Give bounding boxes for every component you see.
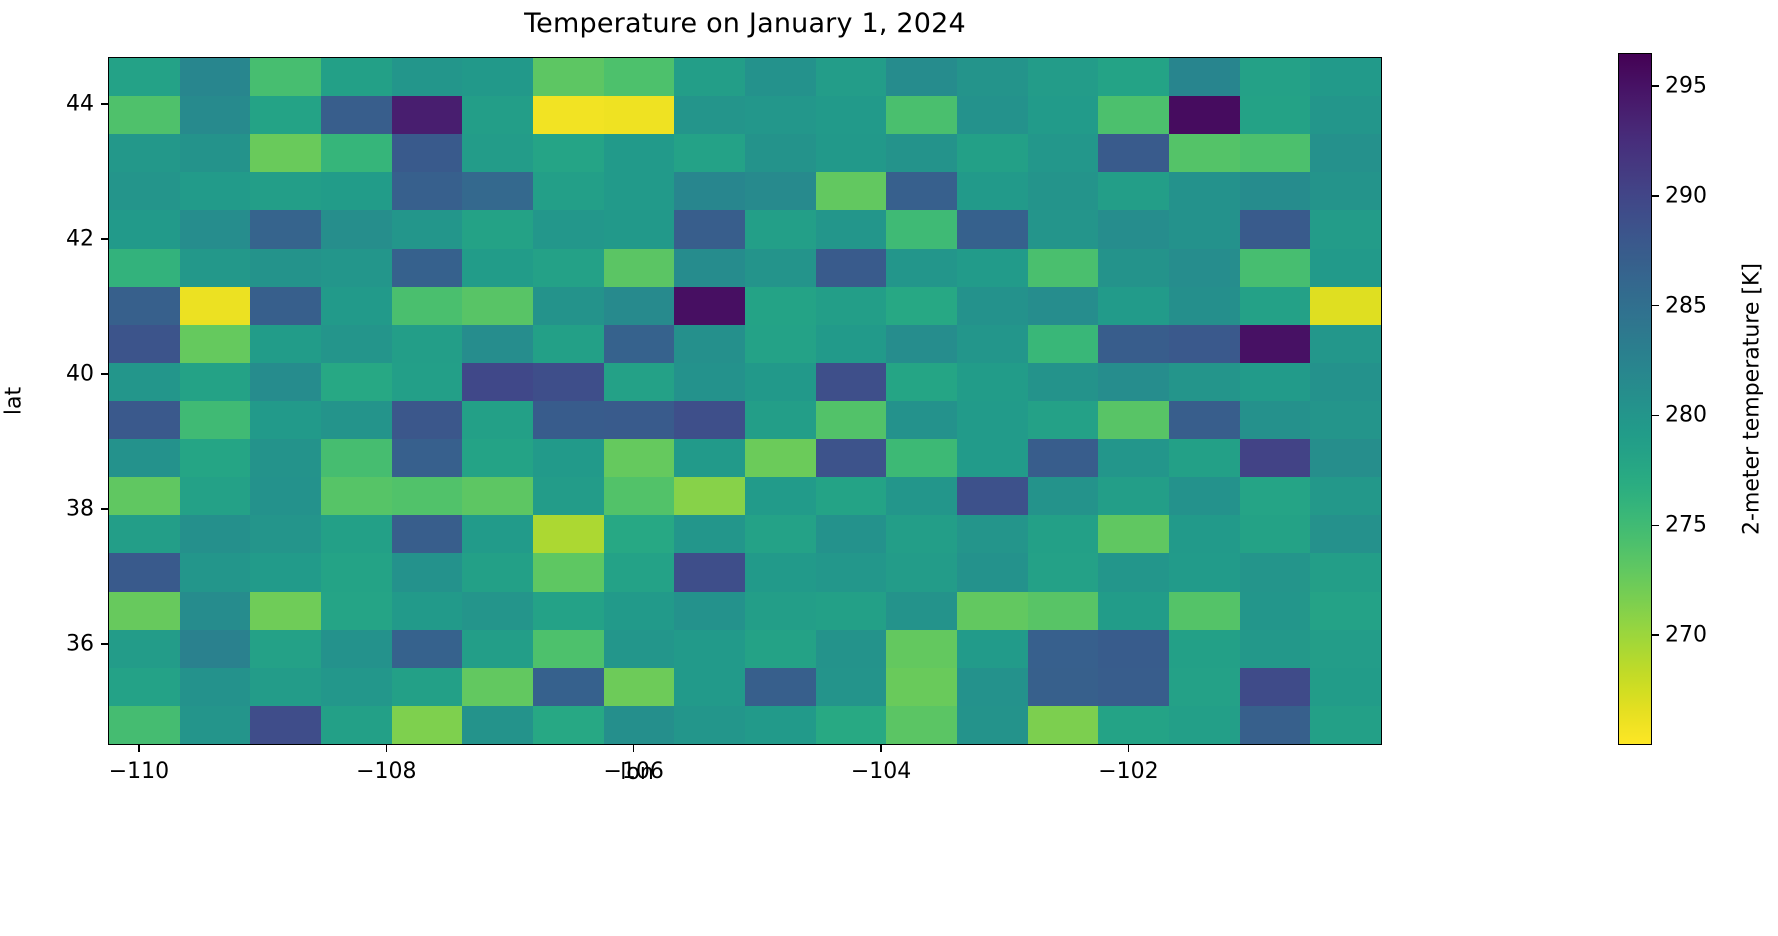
heatmap-cell <box>533 96 604 134</box>
heatmap-cell <box>1310 58 1381 96</box>
heatmap-cell <box>250 210 321 248</box>
heatmap-cell <box>1310 210 1381 248</box>
heatmap-cell <box>886 249 957 287</box>
heatmap-cell <box>957 477 1028 515</box>
heatmap-cell <box>674 249 745 287</box>
heatmap-cell <box>604 668 675 706</box>
heatmap-cell <box>1169 439 1240 477</box>
heatmap-cell <box>109 210 180 248</box>
x-tick-label: −110 <box>109 759 169 784</box>
heatmap-cell <box>674 210 745 248</box>
heatmap-cell <box>604 134 675 172</box>
heatmap-cell <box>462 172 533 210</box>
colorbar-tick-label: 280 <box>1665 403 1707 428</box>
heatmap-cell <box>462 515 533 553</box>
colorbar-tick-mark <box>1652 415 1659 417</box>
heatmap-cell <box>957 249 1028 287</box>
heatmap-cell <box>886 706 957 744</box>
heatmap-cell <box>604 210 675 248</box>
heatmap-cell <box>674 477 745 515</box>
heatmap-cell <box>533 325 604 363</box>
heatmap-cell <box>1310 515 1381 553</box>
heatmap-cell <box>745 363 816 401</box>
heatmap-cell <box>321 172 392 210</box>
heatmap-cell <box>533 477 604 515</box>
heatmap-cell <box>674 325 745 363</box>
heatmap-cell <box>745 249 816 287</box>
heatmap-cell <box>180 96 251 134</box>
heatmap-cell <box>250 515 321 553</box>
heatmap-cell <box>1240 706 1311 744</box>
heatmap-cell <box>745 668 816 706</box>
heatmap-cell <box>1028 287 1099 325</box>
figure-canvas: Temperature on January 1, 2024 lat lon 2… <box>0 0 1778 936</box>
heatmap-cell <box>109 630 180 668</box>
heatmap-cell <box>462 325 533 363</box>
colorbar-tick-mark <box>1652 195 1659 197</box>
heatmap-cell <box>1098 515 1169 553</box>
chart-title: Temperature on January 1, 2024 <box>0 8 1490 39</box>
heatmap-cell <box>109 96 180 134</box>
heatmap-cell <box>816 96 887 134</box>
heatmap-cell <box>1028 401 1099 439</box>
heatmap-cell <box>1028 553 1099 591</box>
heatmap-cell <box>1098 287 1169 325</box>
heatmap-cell <box>109 325 180 363</box>
heatmap-cell <box>321 553 392 591</box>
heatmap-cell <box>1240 172 1311 210</box>
heatmap-cell <box>462 401 533 439</box>
y-tick-label: 38 <box>66 496 94 521</box>
heatmap-cell <box>1169 325 1240 363</box>
heatmap-cell <box>886 96 957 134</box>
heatmap-cell <box>1240 363 1311 401</box>
heatmap-cell <box>745 630 816 668</box>
heatmap-cell <box>533 134 604 172</box>
heatmap-cell <box>957 515 1028 553</box>
heatmap-cell <box>250 592 321 630</box>
heatmap-cell <box>1028 172 1099 210</box>
heatmap-cell <box>392 401 463 439</box>
heatmap-cell <box>1310 630 1381 668</box>
heatmap-cell <box>674 592 745 630</box>
heatmap-cell <box>745 287 816 325</box>
heatmap-cell <box>462 592 533 630</box>
heatmap-cell <box>886 134 957 172</box>
heatmap-cell <box>321 249 392 287</box>
heatmap-cell <box>1098 210 1169 248</box>
heatmap-cell <box>1240 477 1311 515</box>
heatmap-cell <box>604 249 675 287</box>
heatmap-cell <box>462 363 533 401</box>
heatmap-cell <box>957 287 1028 325</box>
heatmap-cell <box>604 439 675 477</box>
y-tick-label: 42 <box>66 227 94 252</box>
heatmap-cell <box>462 706 533 744</box>
heatmap-cell <box>957 58 1028 96</box>
heatmap-cell <box>1310 172 1381 210</box>
heatmap-cell <box>886 363 957 401</box>
heatmap-cell <box>533 401 604 439</box>
heatmap-cell <box>180 439 251 477</box>
y-tick-label: 40 <box>66 362 94 387</box>
heatmap-cell <box>250 706 321 744</box>
heatmap-cell <box>1169 668 1240 706</box>
heatmap-cell <box>1169 96 1240 134</box>
heatmap-cell <box>321 630 392 668</box>
heatmap-cell <box>816 706 887 744</box>
heatmap-cell <box>109 401 180 439</box>
heatmap-cell <box>1098 706 1169 744</box>
heatmap-cell <box>745 439 816 477</box>
heatmap-cell <box>462 668 533 706</box>
heatmap-cell <box>533 210 604 248</box>
heatmap-cell <box>604 515 675 553</box>
heatmap-cell <box>816 249 887 287</box>
heatmap-cell <box>1310 134 1381 172</box>
heatmap-cell <box>109 477 180 515</box>
heatmap-cell <box>1028 210 1099 248</box>
heatmap-cell <box>180 363 251 401</box>
heatmap-cell <box>1028 325 1099 363</box>
heatmap-cell <box>1240 439 1311 477</box>
heatmap-cell <box>250 172 321 210</box>
heatmap-cell <box>392 477 463 515</box>
heatmap-cell <box>1098 58 1169 96</box>
colorbar-gradient <box>1619 54 1651 744</box>
heatmap-cell <box>1240 515 1311 553</box>
heatmap-cell <box>957 439 1028 477</box>
heatmap-cell <box>1028 249 1099 287</box>
heatmap-cell <box>180 172 251 210</box>
heatmap-cell <box>392 210 463 248</box>
heatmap-cell <box>462 134 533 172</box>
x-tick-label: −102 <box>1098 759 1158 784</box>
heatmap-cell <box>1028 515 1099 553</box>
heatmap-cell <box>180 325 251 363</box>
heatmap-cell <box>533 553 604 591</box>
heatmap-cell <box>674 439 745 477</box>
heatmap-cell <box>1310 249 1381 287</box>
heatmap-cell <box>957 363 1028 401</box>
heatmap-cell <box>886 477 957 515</box>
heatmap-cell <box>1028 668 1099 706</box>
heatmap-cell <box>462 249 533 287</box>
heatmap-cell <box>321 706 392 744</box>
heatmap-cell <box>745 401 816 439</box>
heatmap-cell <box>109 668 180 706</box>
heatmap-cell <box>816 172 887 210</box>
heatmap-cell <box>957 630 1028 668</box>
heatmap-cell <box>1028 363 1099 401</box>
heatmap-cell <box>250 668 321 706</box>
heatmap-cell <box>674 287 745 325</box>
heatmap-cell <box>533 249 604 287</box>
heatmap-cell <box>533 363 604 401</box>
heatmap-cell <box>533 439 604 477</box>
heatmap-cell <box>1169 515 1240 553</box>
heatmap-cell <box>886 668 957 706</box>
heatmap-cell <box>1240 401 1311 439</box>
heatmap-cell <box>1310 96 1381 134</box>
heatmap-cell <box>462 58 533 96</box>
heatmap-cell <box>1098 249 1169 287</box>
x-tick-mark <box>138 745 140 752</box>
heatmap-cell <box>745 515 816 553</box>
heatmap-cell <box>816 515 887 553</box>
heatmap-cell <box>533 58 604 96</box>
heatmap-cell <box>674 515 745 553</box>
heatmap-cell <box>957 706 1028 744</box>
heatmap-cell <box>816 401 887 439</box>
heatmap-cell <box>1028 439 1099 477</box>
heatmap-cell <box>1240 287 1311 325</box>
heatmap-cell <box>109 249 180 287</box>
heatmap-cell <box>957 134 1028 172</box>
heatmap-cell <box>745 592 816 630</box>
colorbar-tick-label: 275 <box>1665 513 1707 538</box>
heatmap-cell <box>1240 96 1311 134</box>
heatmap-cell <box>392 172 463 210</box>
heatmap-cell <box>745 210 816 248</box>
colorbar-tick-mark <box>1652 305 1659 307</box>
heatmap-cell <box>180 706 251 744</box>
heatmap-cell <box>604 325 675 363</box>
heatmap-cell <box>180 134 251 172</box>
heatmap-cell <box>1098 592 1169 630</box>
colorbar-tick-label: 270 <box>1665 623 1707 648</box>
colorbar-tick-mark <box>1652 85 1659 87</box>
heatmap-cell <box>816 210 887 248</box>
x-tick-label: −104 <box>851 759 911 784</box>
heatmap-cell <box>745 477 816 515</box>
heatmap-cell <box>1169 363 1240 401</box>
y-tick-label: 44 <box>66 92 94 117</box>
heatmap-cell <box>957 592 1028 630</box>
heatmap-cell <box>1098 172 1169 210</box>
heatmap-cell <box>321 401 392 439</box>
heatmap-cell <box>250 553 321 591</box>
colorbar-tick-mark <box>1652 525 1659 527</box>
colorbar-tick-mark <box>1652 634 1659 636</box>
heatmap-cell <box>392 439 463 477</box>
heatmap-cell <box>250 58 321 96</box>
y-tick-mark <box>101 103 108 105</box>
heatmap-cell <box>321 592 392 630</box>
heatmap-cell <box>250 287 321 325</box>
heatmap-cell <box>957 172 1028 210</box>
heatmap-cell <box>392 515 463 553</box>
x-tick-label: −108 <box>356 759 416 784</box>
heatmap-cell <box>886 401 957 439</box>
heatmap-cell <box>392 58 463 96</box>
heatmap-cell <box>1169 477 1240 515</box>
heatmap-cell <box>604 630 675 668</box>
heatmap-cell <box>674 553 745 591</box>
heatmap-cell <box>392 96 463 134</box>
heatmap-cell <box>1240 630 1311 668</box>
heatmap-cell <box>392 287 463 325</box>
heatmap-cell <box>180 210 251 248</box>
heatmap-cell <box>604 477 675 515</box>
heatmap-cell <box>462 96 533 134</box>
heatmap-cell <box>321 363 392 401</box>
heatmap-cell <box>886 58 957 96</box>
heatmap-cell <box>1240 58 1311 96</box>
heatmap-cell <box>1169 58 1240 96</box>
colorbar-tick-label: 290 <box>1665 183 1707 208</box>
heatmap-cell <box>321 515 392 553</box>
heatmap-cell <box>674 172 745 210</box>
heatmap-cell <box>604 96 675 134</box>
heatmap-cell <box>462 553 533 591</box>
heatmap-cell <box>1240 553 1311 591</box>
heatmap-cell <box>392 668 463 706</box>
heatmap-cell <box>1098 325 1169 363</box>
heatmap-cell <box>109 553 180 591</box>
heatmap-cell <box>250 249 321 287</box>
heatmap-cell <box>1169 553 1240 591</box>
colorbar-label: 2-meter temperature [K] <box>1740 263 1765 535</box>
heatmap-cell <box>886 592 957 630</box>
heatmap-cell <box>321 668 392 706</box>
x-tick-label: −106 <box>603 759 663 784</box>
heatmap-cell <box>1240 668 1311 706</box>
heatmap-cell <box>1310 363 1381 401</box>
heatmap-cell <box>1310 287 1381 325</box>
heatmap-cell <box>1169 630 1240 668</box>
heatmap-cell <box>321 210 392 248</box>
heatmap-cell <box>180 58 251 96</box>
heatmap-cell <box>392 592 463 630</box>
heatmap-cell <box>745 58 816 96</box>
heatmap-cell <box>816 477 887 515</box>
heatmap-cell <box>321 134 392 172</box>
heatmap-cell <box>604 592 675 630</box>
heatmap-cell <box>604 706 675 744</box>
heatmap-cell <box>1240 592 1311 630</box>
heatmap-cell <box>816 287 887 325</box>
heatmap-cell <box>604 58 675 96</box>
heatmap-cell <box>604 363 675 401</box>
colorbar-tick-label: 295 <box>1665 73 1707 98</box>
heatmap-cell <box>1240 210 1311 248</box>
heatmap-grid <box>109 58 1381 744</box>
heatmap-cell <box>1028 706 1099 744</box>
heatmap-cell <box>886 287 957 325</box>
heatmap-cell <box>1169 592 1240 630</box>
heatmap-cell <box>109 363 180 401</box>
heatmap-cell <box>462 439 533 477</box>
heatmap-cell <box>250 325 321 363</box>
x-tick-mark <box>633 745 635 752</box>
heatmap-cell <box>1028 58 1099 96</box>
heatmap-cell <box>1098 668 1169 706</box>
heatmap-cell <box>1169 706 1240 744</box>
heatmap-cell <box>250 363 321 401</box>
heatmap-cell <box>533 668 604 706</box>
heatmap-cell <box>1310 325 1381 363</box>
y-tick-mark <box>101 238 108 240</box>
heatmap-cell <box>180 401 251 439</box>
heatmap-cell <box>1098 134 1169 172</box>
heatmap-cell <box>957 210 1028 248</box>
heatmap-cell <box>1310 706 1381 744</box>
y-tick-mark <box>101 373 108 375</box>
heatmap-cell <box>392 363 463 401</box>
heatmap-cell <box>1098 401 1169 439</box>
heatmap-cell <box>674 668 745 706</box>
heatmap-cell <box>674 706 745 744</box>
heatmap-cell <box>250 401 321 439</box>
heatmap-cell <box>816 325 887 363</box>
heatmap-cell <box>674 363 745 401</box>
heatmap-cell <box>109 592 180 630</box>
heatmap-cell <box>1098 477 1169 515</box>
heatmap-cell <box>1169 287 1240 325</box>
heatmap-cell <box>604 553 675 591</box>
heatmap-cell <box>604 287 675 325</box>
heatmap-cell <box>533 592 604 630</box>
heatmap-cell <box>180 287 251 325</box>
heatmap-cell <box>745 706 816 744</box>
heatmap-cell <box>321 287 392 325</box>
heatmap-cell <box>745 96 816 134</box>
heatmap-cell <box>462 210 533 248</box>
heatmap-cell <box>109 439 180 477</box>
heatmap-cell <box>745 325 816 363</box>
heatmap-cell <box>250 134 321 172</box>
heatmap-cell <box>1028 592 1099 630</box>
heatmap-cell <box>109 134 180 172</box>
heatmap-cell <box>816 553 887 591</box>
colorbar <box>1618 53 1652 745</box>
heatmap-cell <box>462 477 533 515</box>
heatmap-cell <box>180 553 251 591</box>
heatmap-cell <box>886 210 957 248</box>
heatmap-cell <box>1028 134 1099 172</box>
heatmap-cell <box>816 630 887 668</box>
heatmap-cell <box>392 553 463 591</box>
heatmap-cell <box>1169 249 1240 287</box>
heatmap-cell <box>250 96 321 134</box>
heatmap-cell <box>816 363 887 401</box>
x-tick-mark <box>386 745 388 752</box>
heatmap-cell <box>392 134 463 172</box>
heatmap-cell <box>321 58 392 96</box>
heatmap-cell <box>1169 401 1240 439</box>
heatmap-cell <box>1310 401 1381 439</box>
heatmap-cell <box>1169 172 1240 210</box>
heatmap-cell <box>674 134 745 172</box>
heatmap-cell <box>533 630 604 668</box>
heatmap-cell <box>250 477 321 515</box>
heatmap-cell <box>109 515 180 553</box>
heatmap-cell <box>392 325 463 363</box>
heatmap-cell <box>816 58 887 96</box>
heatmap-cell <box>816 668 887 706</box>
heatmap-cell <box>462 630 533 668</box>
x-tick-mark <box>880 745 882 752</box>
heatmap-cell <box>321 96 392 134</box>
heatmap-cell <box>321 439 392 477</box>
heatmap-cell <box>745 553 816 591</box>
heatmap-cell <box>1310 668 1381 706</box>
heatmap-cell <box>886 439 957 477</box>
heatmap-cell <box>1028 477 1099 515</box>
heatmap-cell <box>674 58 745 96</box>
heatmap-cell <box>816 134 887 172</box>
